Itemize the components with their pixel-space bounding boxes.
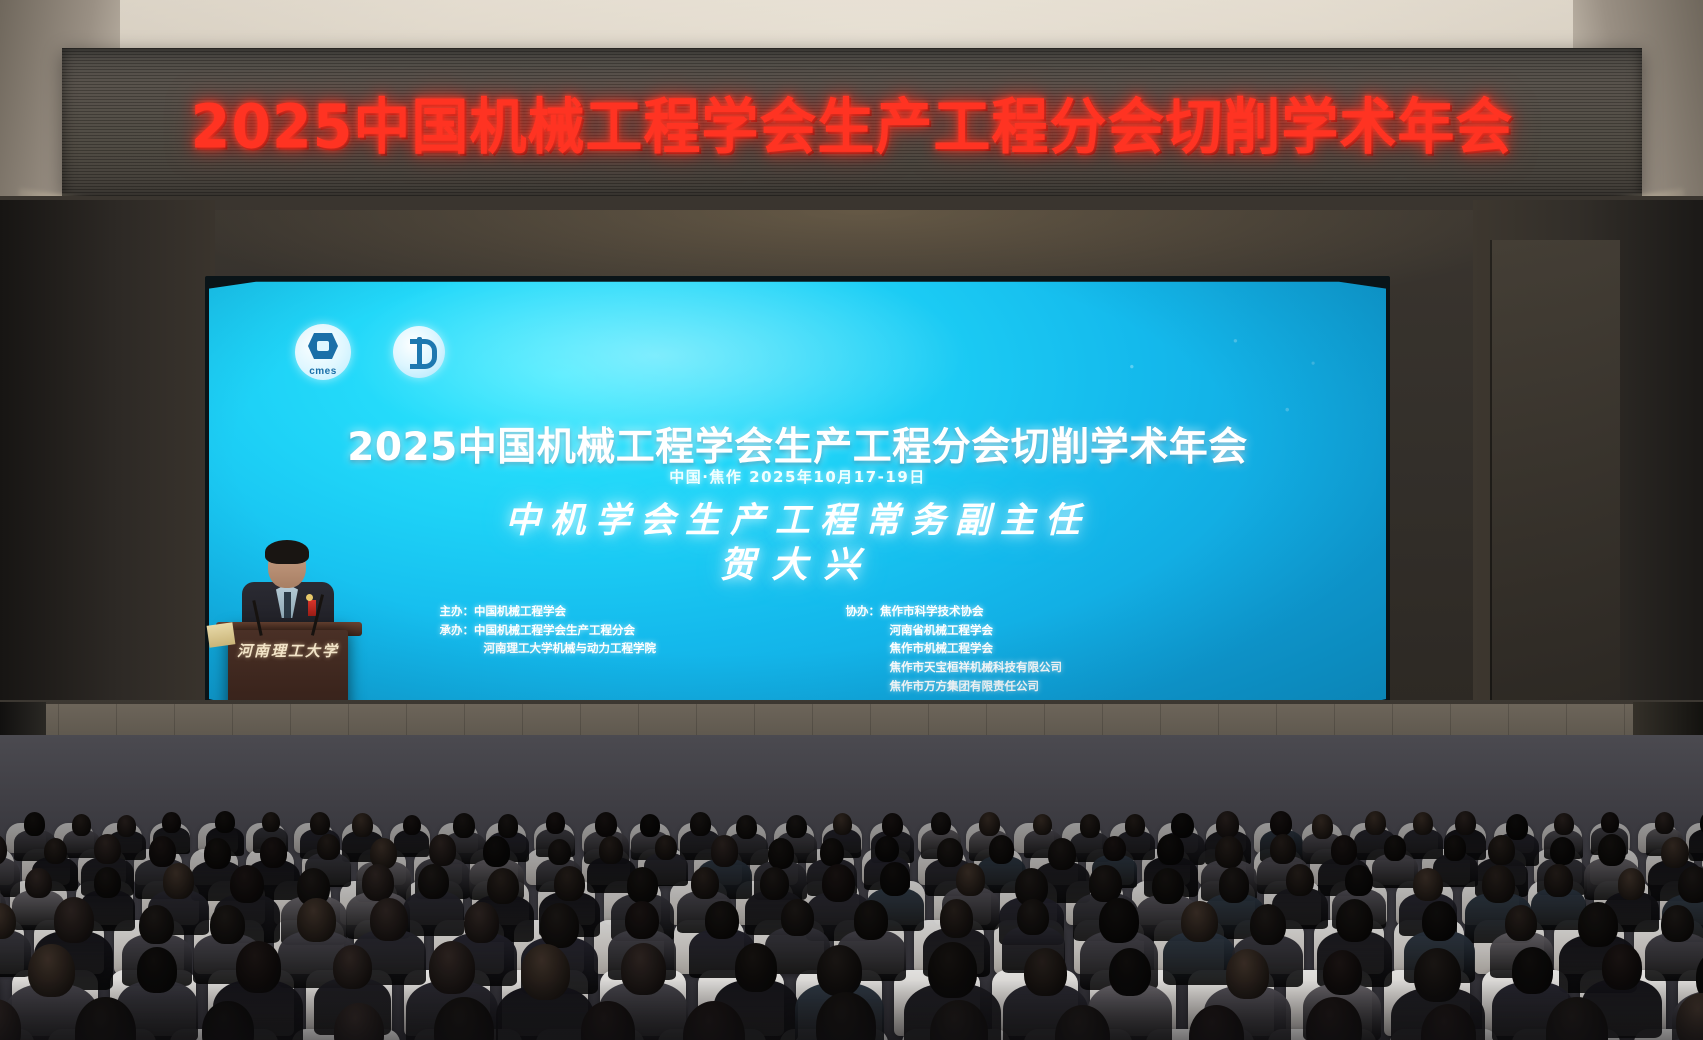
audience-head (822, 864, 855, 902)
speaker-name-text: 贺大兴 (209, 536, 1386, 588)
projection-screen: cmes 2025中国机械工程学会生产工程分会切削学术年会 中国·焦作 2025… (209, 280, 1386, 712)
audience-head (230, 865, 264, 903)
audience-head (1017, 899, 1049, 935)
audience-head (1512, 947, 1553, 994)
audience-head (94, 867, 121, 898)
audience-head (149, 836, 176, 867)
audience-head (1033, 814, 1052, 835)
audience-head (1661, 837, 1689, 869)
audience-head (1506, 814, 1528, 839)
audience-head (72, 814, 91, 835)
audience-member (0, 857, 20, 897)
audience-head (711, 835, 739, 866)
audience-head (1678, 866, 1703, 904)
audience-head (627, 867, 659, 903)
speaker-ribbon-badge (308, 600, 316, 616)
audience-area (0, 735, 1703, 1040)
audience-head (880, 862, 909, 896)
audience-head (979, 812, 1000, 836)
audience-head (1024, 948, 1067, 997)
audience-head (1216, 811, 1239, 837)
audience-head (1250, 904, 1286, 945)
audience-head (453, 813, 475, 838)
audience-head (937, 838, 962, 867)
audience-head (1598, 834, 1626, 866)
audience-head (210, 905, 244, 944)
audience-head (548, 839, 571, 865)
audience-head (1384, 835, 1407, 861)
audience-head (595, 812, 618, 838)
audience-head (429, 834, 457, 866)
audience-head (1602, 944, 1642, 990)
audience-head (1109, 948, 1151, 996)
audience-head (1331, 835, 1357, 865)
speaker-tie (284, 592, 291, 618)
cmes-logo-caption: cmes (295, 366, 351, 377)
audience-head (163, 863, 194, 898)
audience-head (94, 834, 121, 864)
audience-head (1215, 836, 1243, 868)
audience-head (236, 941, 281, 993)
audience-head (162, 812, 180, 833)
audience-head (989, 835, 1014, 863)
audience-head (1488, 835, 1515, 865)
audience-head (1219, 867, 1250, 902)
audience-head (1550, 837, 1575, 866)
audience-head (1323, 950, 1362, 995)
organizer-line: 焦作市万方集团有限责任公司 (846, 677, 1156, 696)
audience-head (403, 815, 421, 836)
audience-head (854, 900, 889, 939)
audience-member (1689, 829, 1703, 861)
audience-head (418, 864, 449, 899)
audience-head (498, 814, 519, 838)
audience-head (940, 899, 974, 937)
side-panel-right (1490, 240, 1620, 710)
organizers-right-column: 协办：焦作市科学技术协会 河南省机械工程学会 焦作市机械工程学会 焦作市天宝桓祥… (846, 602, 1156, 695)
audience-head (1413, 812, 1433, 835)
audience-head (204, 838, 231, 869)
audience-head (1482, 865, 1515, 903)
audience-head (690, 812, 711, 836)
audience-head (554, 866, 585, 901)
organizer-line: 焦作市机械工程学会 (846, 639, 1156, 658)
screen-title: 2025中国机械工程学会生产工程分会切削学术年会 (209, 416, 1386, 472)
audience-head (540, 903, 579, 947)
audience-head (1157, 834, 1184, 865)
audience-head (352, 813, 373, 837)
audience-head (1365, 811, 1386, 835)
audience-head (931, 812, 951, 835)
audience-head (44, 838, 67, 864)
audience-head (1655, 812, 1674, 833)
audience-head (1505, 905, 1537, 941)
audience-head (28, 944, 75, 997)
audience-head (875, 836, 898, 863)
audience-head (260, 837, 287, 868)
audience-head (1226, 949, 1269, 999)
audience-head (1444, 835, 1467, 861)
screen-date-location: 中国·焦作 2025年10月17-19日 (209, 466, 1386, 487)
audience-head (882, 813, 903, 837)
audience-head (24, 812, 45, 836)
organizers-left-column: 主办：中国机械工程学会 承办：中国机械工程学会生产工程分会 河南理工大学机械与动… (440, 602, 750, 695)
audience-head (310, 812, 330, 835)
audience-head (760, 867, 789, 900)
organizer-line: 焦作市天宝桓祥机械科技有限公司 (846, 658, 1156, 677)
audience-head (1455, 811, 1476, 835)
audience-head (262, 812, 280, 832)
audience-head (625, 901, 659, 940)
audience-head (691, 867, 719, 899)
audience-head (464, 902, 500, 943)
audience-head (736, 815, 758, 840)
audience-head (1099, 898, 1138, 943)
audience-head (139, 905, 174, 945)
led-banner-text: 2025中国机械工程学会生产工程分会切削学术年会 (191, 79, 1514, 166)
audience-head (297, 898, 336, 942)
audience-head (1661, 905, 1694, 943)
podium-plate-text: 河南理工大学 (228, 640, 348, 661)
audience-head (1413, 868, 1442, 901)
audience-head (487, 868, 519, 904)
audience-head (370, 898, 407, 941)
audience-head (1422, 901, 1458, 942)
audience-head (705, 901, 738, 939)
organizer-line: 河南省机械工程学会 (846, 621, 1156, 640)
audience-head (521, 944, 570, 1000)
audience-head (1103, 836, 1125, 862)
audience-head (1414, 948, 1461, 1002)
audience-head (1601, 812, 1619, 833)
audience-head (1125, 814, 1145, 836)
conference-photo: 2025中国机械工程学会生产工程分会切削学术年会 cmes 2025中国机械工程… (0, 0, 1703, 1040)
audience-head (956, 863, 985, 896)
audience-head (1048, 838, 1076, 870)
audience-head (117, 815, 136, 837)
organizer-line: 承办：中国机械工程学会生产工程分会 (440, 621, 750, 640)
audience-head (1286, 864, 1314, 896)
audience-head (317, 834, 340, 860)
organizer-block: 主办：中国机械工程学会 承办：中国机械工程学会生产工程分会 河南理工大学机械与动… (209, 602, 1386, 695)
audience-head (54, 897, 94, 942)
audience-head (655, 835, 677, 860)
speaker-hair (265, 540, 309, 564)
organizer-line: 协办：焦作市科学技术协会 (846, 602, 1156, 621)
audience-head (362, 864, 394, 901)
audience-head (1181, 901, 1217, 942)
audience-head (1578, 902, 1617, 947)
audience-head (1554, 813, 1574, 835)
audience-head (599, 836, 624, 864)
audience-head (928, 942, 977, 997)
audience-head (1089, 865, 1121, 902)
audience-head (735, 943, 777, 991)
audience-head (1544, 864, 1572, 896)
audience-head (215, 811, 234, 833)
hpu-logo-icon (393, 326, 445, 378)
audience-head (768, 838, 795, 868)
audience-head (1152, 868, 1184, 904)
audience-head (1270, 834, 1296, 864)
audience-head (1345, 865, 1372, 896)
audience-head (640, 814, 660, 837)
audience-head (25, 868, 52, 898)
audience-head (333, 945, 372, 989)
audience-head (483, 836, 511, 867)
audience-head (833, 813, 852, 835)
organizer-line: 河南理工大学机械与动力工程学院 (440, 639, 750, 658)
audience-head (546, 812, 565, 834)
audience-head (1618, 868, 1646, 899)
audience-head (137, 947, 178, 994)
cmes-logo-icon: cmes (295, 324, 351, 380)
audience-people (0, 805, 1703, 1040)
audience-head (781, 899, 813, 936)
led-banner: 2025中国机械工程学会生产工程分会切削学术年会 (62, 48, 1642, 196)
audience-head (429, 941, 476, 994)
audience-head (1080, 814, 1101, 837)
audience-head (817, 945, 862, 996)
audience-head (820, 838, 845, 866)
wall-seam (1490, 240, 1492, 710)
audience-head (621, 943, 666, 994)
audience-head (786, 815, 807, 839)
screen-logo-row: cmes (295, 324, 445, 380)
organizer-line: 主办：中国机械工程学会 (440, 602, 750, 621)
audience-head (1312, 814, 1333, 838)
speaker-lapel-pin (306, 594, 313, 601)
audience-head (1270, 811, 1292, 836)
audience-head (1336, 899, 1374, 942)
